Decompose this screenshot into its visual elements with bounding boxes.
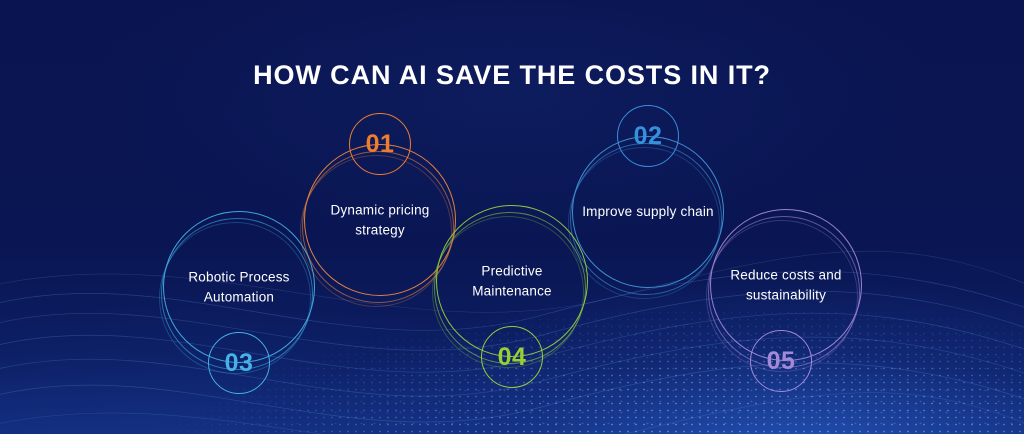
circle-badge-05[interactable]: 05 — [750, 330, 812, 392]
circle-node-05[interactable]: Reduce costs and sustainability 05 — [710, 209, 862, 361]
circle-badge-number-01: 01 — [366, 132, 395, 157]
circle-badge-04[interactable]: 04 — [481, 326, 543, 388]
circle-label-03: Robotic Process Automation — [170, 267, 308, 306]
circle-label-05: Reduce costs and sustainability — [717, 265, 855, 304]
circle-badge-number-05: 05 — [767, 349, 796, 374]
circle-label-01: Dynamic pricing strategy — [311, 200, 449, 239]
circle-badge-number-02: 02 — [634, 124, 663, 149]
circle-badge-number-04: 04 — [498, 345, 527, 370]
circle-badge-03[interactable]: 03 — [208, 332, 270, 394]
circle-badge-01[interactable]: 01 — [349, 113, 411, 175]
circle-label-04: Predictive Maintenance — [443, 261, 581, 300]
infographic-canvas: HOW CAN AI SAVE THE COSTS IN IT? Robotic… — [0, 0, 1024, 434]
circle-node-03[interactable]: Robotic Process Automation 03 — [163, 211, 315, 363]
circle-badge-number-03: 03 — [225, 351, 254, 376]
circle-node-04[interactable]: Predictive Maintenance 04 — [436, 205, 588, 357]
circles-diagram: Robotic Process Automation 03 Reduce cos… — [0, 0, 1024, 434]
circle-label-02: Improve supply chain — [579, 202, 717, 222]
circle-node-02[interactable]: Improve supply chain 02 — [572, 136, 724, 288]
circle-badge-02[interactable]: 02 — [617, 105, 679, 167]
